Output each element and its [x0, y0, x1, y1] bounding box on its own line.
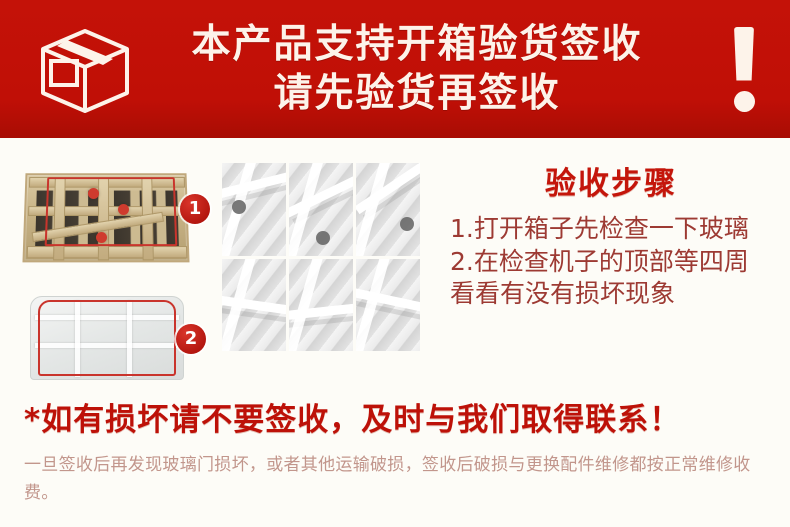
- photo-grid-column: [216, 152, 434, 388]
- inspection-photo-cell: [356, 259, 420, 352]
- inspection-marker-dot: [316, 231, 330, 245]
- header-banner: 本产品支持开箱验货签收 请先验货再签收: [0, 0, 790, 138]
- warning-headline: *如有损坏请不要签收，及时与我们取得联系！: [24, 394, 768, 439]
- crate-slat: [53, 177, 66, 260]
- bottom-warning-section: *如有损坏请不要签收，及时与我们取得联系！ 一旦签收后再发现玻璃门损坏，或者其他…: [0, 388, 790, 527]
- glass-frame-bar: [127, 301, 132, 377]
- step-badge-1: 1: [180, 194, 210, 224]
- inspection-photo-cell: [222, 163, 286, 256]
- inspection-photo-cell: [356, 163, 420, 256]
- crate-slat: [98, 177, 109, 260]
- inspection-photo-cell: [289, 259, 353, 352]
- banner-title: 本产品支持开箱验货签收 请先验货再签收: [140, 24, 698, 114]
- glass-cabinet-body: [30, 296, 184, 380]
- step-item-1: 1.打开箱子先检查一下玻璃: [450, 213, 772, 246]
- banner-title-line-1: 本产品支持开箱验货签收: [140, 24, 694, 65]
- inspection-photo-cell: [222, 259, 286, 352]
- glass-frame-bar: [35, 343, 179, 348]
- step-badge-2: 2: [176, 324, 206, 354]
- glass-cabinet-photo: 2: [20, 290, 192, 388]
- inspection-marker-dot: [88, 188, 99, 199]
- warning-fineprint: 一旦签收后再发现玻璃门损坏，或者其他运输破损，签收后破损与更换配件维修都按正常维…: [24, 452, 768, 507]
- glass-frame-bar: [75, 301, 80, 377]
- wooden-crate-photo: 1: [20, 164, 192, 274]
- steps-heading: 验收步骤: [450, 158, 772, 203]
- banner-title-line-2: 请先验货再签收: [140, 73, 694, 114]
- open-box-icon: [26, 10, 144, 128]
- inspection-photo-cell: [289, 163, 353, 256]
- inspection-photo-grid: [222, 163, 420, 351]
- exclamation-stem: [734, 27, 754, 81]
- exclamation-dot: [734, 91, 755, 112]
- inspection-content: 1 2: [0, 138, 790, 388]
- exclamation-mark-icon: [698, 27, 790, 112]
- crate-body: [22, 173, 189, 262]
- step-item-2-continued: 看看有没有损坏现象: [450, 278, 772, 311]
- inspection-marker-dot: [400, 217, 414, 231]
- crate-photo-column: 1 2: [20, 152, 216, 388]
- steps-column: 验收步骤 1.打开箱子先检查一下玻璃 2.在检查机子的顶部等四周 看看有没有损坏…: [434, 152, 772, 388]
- inspection-marker-dot: [96, 232, 107, 243]
- inspection-marker-dot: [232, 200, 246, 214]
- step-item-2: 2.在检查机子的顶部等四周: [450, 246, 772, 279]
- inspection-marker-dot: [118, 204, 129, 215]
- glass-frame-bar: [35, 315, 179, 320]
